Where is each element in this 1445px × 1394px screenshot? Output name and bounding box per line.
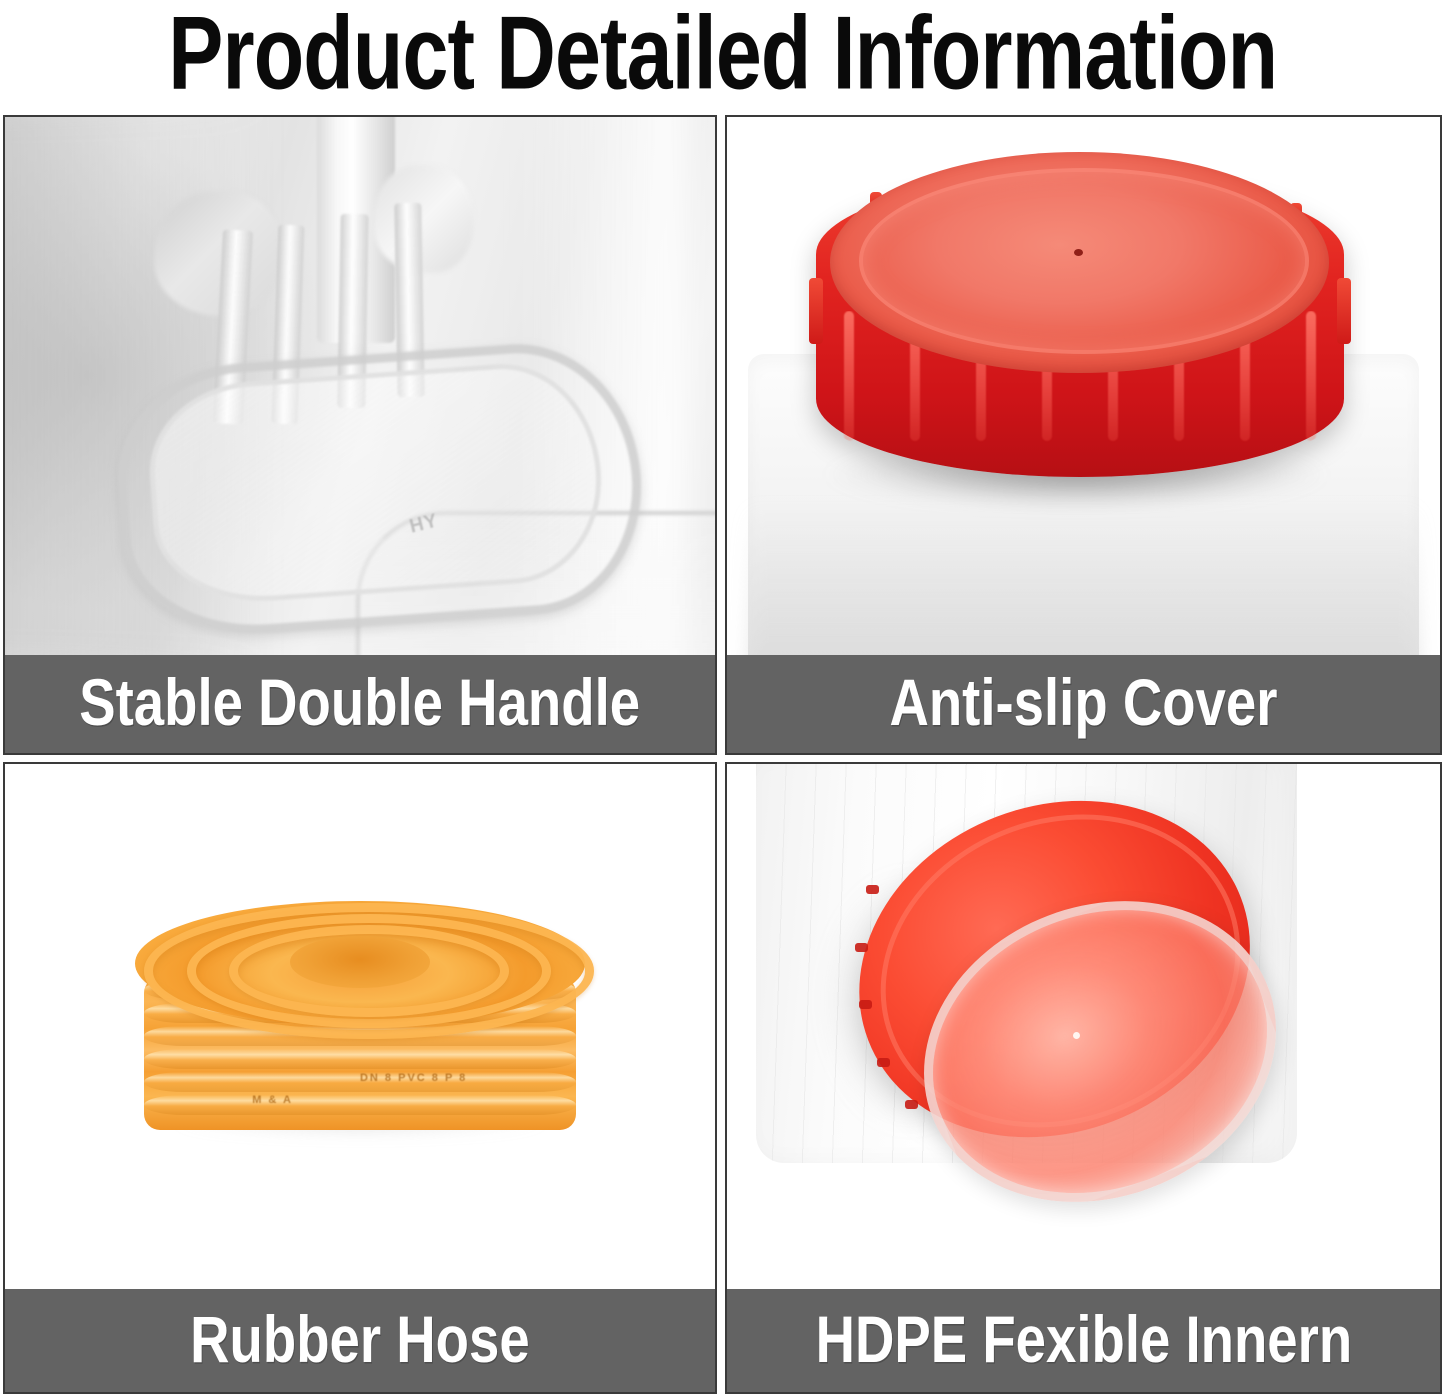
hose-coil-center [290, 936, 431, 988]
hose-coil: M & A DN 8 PVC 8 P 8 [126, 901, 595, 1174]
cap-side-notch [1337, 278, 1351, 344]
caption-bar-rubber-hose: Rubber Hose [5, 1289, 715, 1392]
panel-frame: HY Stable Double Handle [3, 115, 717, 755]
panel-frame: M & A DN 8 PVC 8 P 8 Rubber Hose [3, 762, 717, 1394]
product-photo-hose: M & A DN 8 PVC 8 P 8 [5, 764, 715, 1289]
liner-center-dot [1073, 1032, 1080, 1039]
cap-edge-notch [859, 1000, 872, 1009]
cap-side-notch [809, 278, 823, 344]
cap-edge-notch [866, 885, 879, 894]
hose-printed-mark: M & A [252, 1094, 293, 1106]
caption-bar-hdpe-flexible-inner: HDPE Fexible Innern [727, 1289, 1440, 1392]
caption-bar-anti-slip-cover: Anti-slip Cover [727, 655, 1440, 753]
cap-top-ring [859, 168, 1309, 354]
cap-edge-notch [855, 943, 868, 952]
handle-loop-inner [143, 357, 607, 608]
caption-label: Rubber Hose [190, 1308, 530, 1374]
hose-strand [144, 1095, 575, 1115]
feature-panel-rubber-hose: M & A DN 8 PVC 8 P 8 Rubber Hose [0, 757, 723, 1394]
feature-panel-anti-slip-cover: Anti-slip Cover [723, 112, 1445, 757]
panel-frame: Anti-slip Cover [725, 115, 1442, 755]
page-title: Product Detailed Information [168, 2, 1277, 106]
cap-center-vent [1074, 249, 1083, 256]
cap-edge-notch [905, 1100, 918, 1109]
feature-panel-stable-double-handle: HY Stable Double Handle [0, 112, 723, 757]
cap-rib [1306, 311, 1316, 441]
container-shading [748, 504, 1418, 655]
product-photo-cap [727, 117, 1440, 655]
handle-knob-left [154, 192, 282, 316]
product-photo-handle: HY [5, 117, 715, 655]
feature-panel-hdpe-flexible-inner: HDPE Fexible Innern [723, 757, 1445, 1394]
product-photo-liner [727, 764, 1440, 1289]
feature-grid: HY Stable Double Handle [0, 112, 1445, 1394]
caption-label: Stable Double Handle [80, 671, 641, 737]
handle-knob-right [374, 165, 473, 273]
hose-strand [144, 1049, 575, 1069]
caption-label: Anti-slip Cover [889, 671, 1277, 737]
cap-edge-notch [877, 1058, 890, 1067]
panel-frame: HDPE Fexible Innern [725, 762, 1442, 1394]
hose-printed-mark: DN 8 PVC 8 P 8 [360, 1072, 467, 1084]
page-header: Product Detailed Information [0, 0, 1445, 112]
caption-label: HDPE Fexible Innern [815, 1308, 1352, 1374]
caption-bar-stable-double-handle: Stable Double Handle [5, 655, 715, 753]
cap-rib [844, 311, 854, 441]
